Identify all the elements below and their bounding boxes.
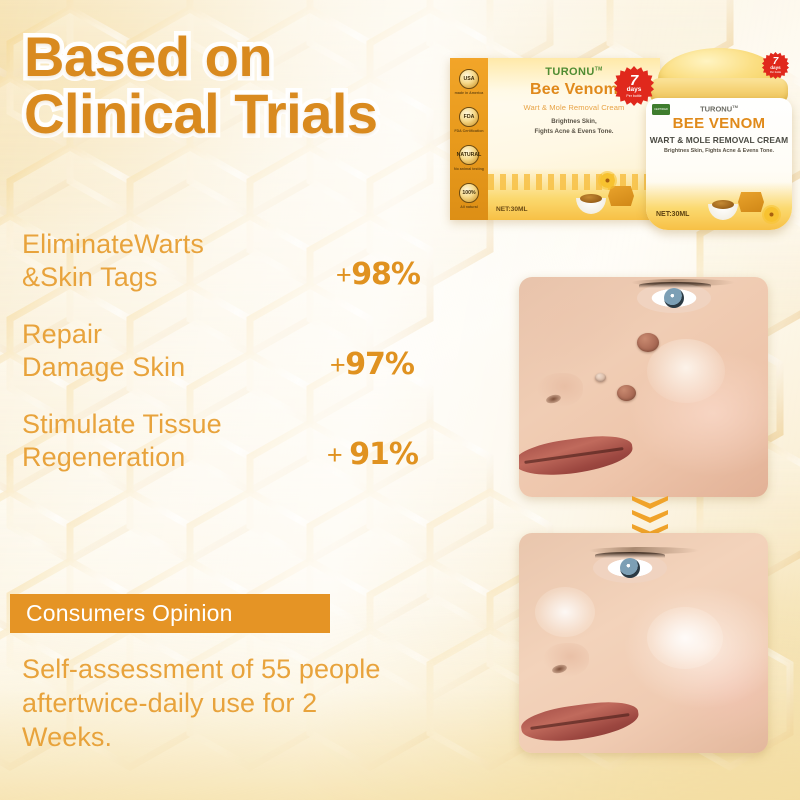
- before-photo: [519, 277, 768, 497]
- product-jar: CERTIFIED TURONUTM BEE VENOM WART & MOLE…: [644, 48, 794, 230]
- seal-fda-certification: FDA FDA Certification: [452, 107, 486, 133]
- badge-note: Per bottle: [770, 72, 781, 75]
- claim-percentage: +91%: [327, 436, 418, 474]
- clear-skin-highlight: [647, 607, 723, 669]
- skin-texture-patch: [647, 339, 725, 403]
- honeycomb-chunk-icon: [608, 186, 634, 206]
- claim-percentage: +97%: [330, 346, 414, 384]
- page-title: Based on Clinical Trials: [24, 28, 494, 142]
- product-box: USA made in America FDA FDA Certificatio…: [450, 58, 660, 220]
- consumers-opinion-label: Consumers Opinion: [26, 600, 233, 627]
- badge-note: Per bottle: [626, 95, 641, 99]
- after-face-image: [519, 533, 768, 753]
- box-product-claims: Brightnes Skin, Fights Acne & Evens Tone…: [488, 117, 660, 136]
- certification-seal-strip: USA made in America FDA FDA Certificatio…: [450, 58, 488, 220]
- eyelash: [639, 282, 711, 288]
- all-natural-icon: 100%: [459, 183, 479, 203]
- chevron-down-icon: [632, 510, 668, 523]
- claim-row: EliminateWarts &Skin Tags +98%: [22, 228, 442, 294]
- nose: [537, 373, 583, 407]
- claim-label: EliminateWarts &Skin Tags: [22, 228, 204, 294]
- honeycomb-chunk-icon: [738, 192, 764, 212]
- headline-line-1: Based on: [24, 25, 272, 88]
- claim-label: Repair Damage Skin: [22, 318, 185, 384]
- jar-body: CERTIFIED TURONUTM BEE VENOM WART & MOLE…: [646, 98, 792, 230]
- chevron-down-icon: [632, 496, 668, 509]
- clear-skin-highlight: [535, 587, 595, 637]
- clinical-claims-list: EliminateWarts &Skin Tags +98% Repair Da…: [22, 228, 442, 474]
- lips: [519, 431, 635, 481]
- promo-poster: Based on Clinical Trials USA made in Ame…: [0, 0, 800, 800]
- transition-arrows: [628, 496, 672, 538]
- claim-row: Repair Damage Skin +97%: [22, 318, 442, 384]
- plus-sign: +: [330, 350, 345, 380]
- badge-unit: days: [627, 87, 642, 94]
- consumers-opinion-body: Self-assessment of 55 people aftertwice-…: [22, 652, 462, 754]
- fda-icon: FDA: [459, 107, 479, 127]
- plus-sign: +: [327, 440, 342, 470]
- product-shot: USA made in America FDA FDA Certificatio…: [448, 48, 800, 230]
- plus-sign: +: [336, 260, 351, 290]
- seal-caption: All natural: [452, 205, 486, 209]
- claim-value: 91%: [349, 437, 418, 472]
- box-net-volume: NET:30ML: [496, 206, 528, 213]
- seal-all-natural: 100% All natural: [452, 183, 486, 209]
- jar-certification-icon: CERTIFIED: [652, 104, 670, 115]
- badge-unit: days: [770, 66, 780, 71]
- before-face-image: [519, 277, 768, 497]
- natural-icon: NATURAL: [459, 145, 479, 165]
- sunflower-icon: [600, 173, 615, 188]
- consumers-opinion-banner: Consumers Opinion: [10, 594, 330, 633]
- claim-label: Stimulate Tissue Regeneration: [22, 408, 222, 474]
- jar-product-claims: Brightnes Skin, Fights Acne & Evens Tone…: [646, 148, 792, 154]
- seal-caption: No animal testing: [452, 167, 486, 171]
- box-claim-line-1: Brightnes Skin,: [488, 117, 660, 127]
- trademark-icon: TM: [732, 104, 738, 109]
- box-brand-text: TURONU: [545, 66, 594, 78]
- claim-value: 97%: [345, 347, 414, 382]
- wart-mole-lesion: [617, 385, 636, 401]
- sunflower-icon: [764, 207, 779, 222]
- trademark-icon: TM: [595, 66, 603, 72]
- seal-made-in-america: USA made in America: [452, 69, 486, 95]
- jar-net-volume: NET:30ML: [656, 211, 689, 218]
- nose: [543, 643, 589, 677]
- claim-row: Stimulate Tissue Regeneration +91%: [22, 408, 442, 474]
- jar-product-subtitle: WART & MOLE REMOVAL CREAM: [646, 135, 792, 145]
- seal-no-animal-testing: NATURAL No animal testing: [452, 145, 486, 171]
- lips: [519, 697, 641, 747]
- eyelash: [595, 552, 665, 558]
- wart-mole-lesion: [637, 333, 659, 352]
- usa-flag-icon: USA: [459, 69, 479, 89]
- skin-tag-lesion: [595, 373, 606, 382]
- jar-brand-text: TURONU: [700, 105, 732, 114]
- seal-caption: made in America: [452, 91, 486, 95]
- seal-caption: FDA Certification: [452, 129, 486, 133]
- box-claim-line-2: Fights Acne & Evens Tone.: [488, 127, 660, 137]
- after-photo: [519, 533, 768, 753]
- claim-percentage: +98%: [336, 256, 420, 294]
- headline-line-2: Clinical Trials: [24, 85, 494, 142]
- jar-product-title: BEE VENOM: [646, 115, 792, 132]
- claim-value: 98%: [351, 257, 420, 292]
